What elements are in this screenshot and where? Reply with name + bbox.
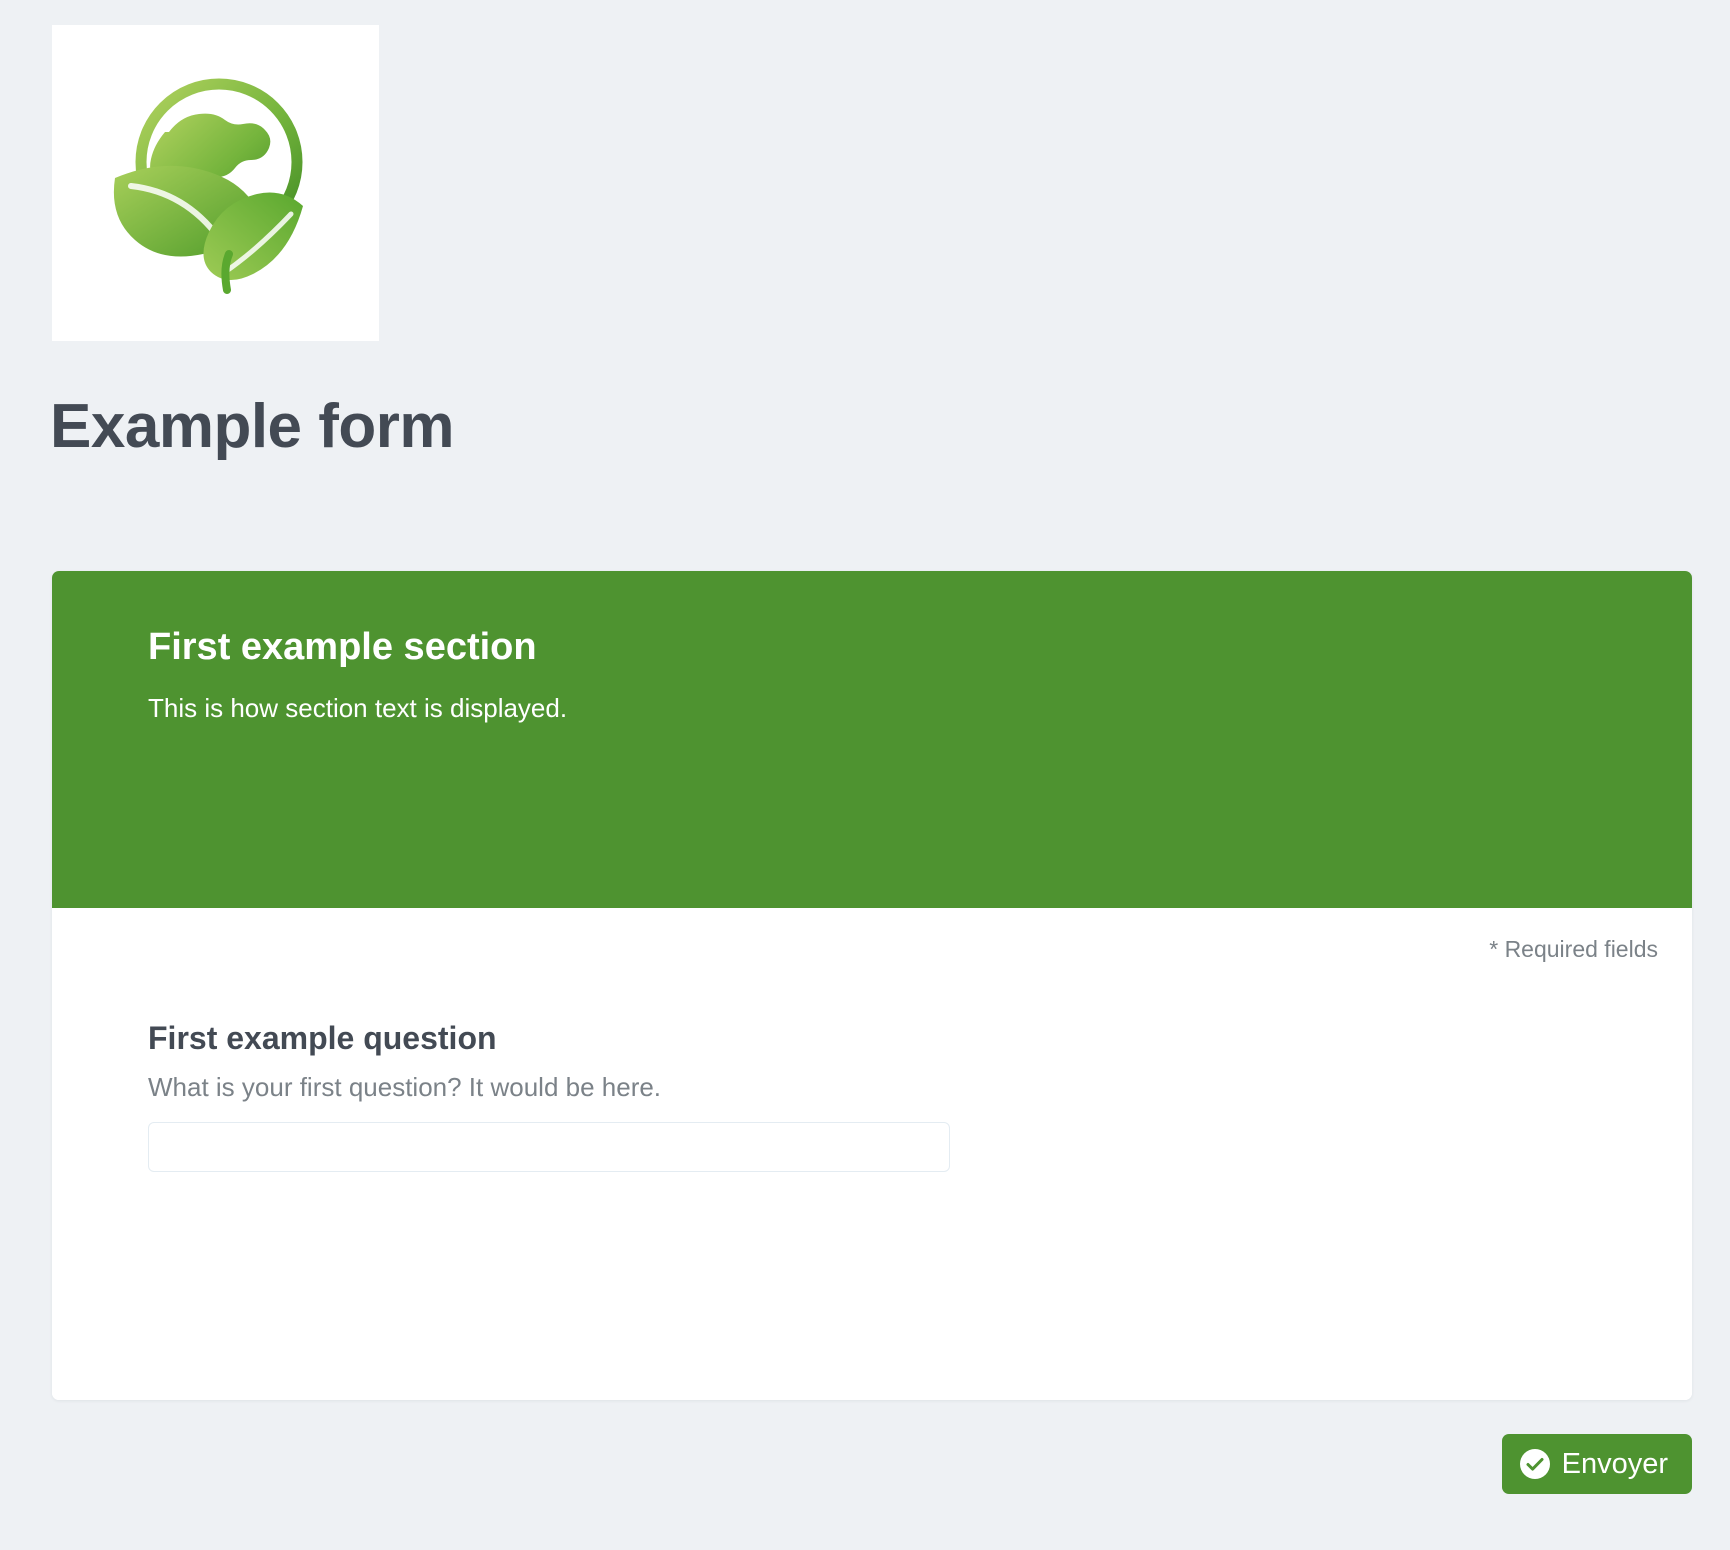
submit-button[interactable]: Envoyer (1502, 1434, 1692, 1494)
form-body: * Required fields First example question… (52, 908, 1692, 1400)
question-description: What is your first question? It would be… (148, 1070, 1148, 1104)
first-example-question-input[interactable] (148, 1122, 950, 1172)
section-header: First example section This is how sectio… (52, 571, 1692, 908)
page-title: Example form (50, 388, 454, 466)
section-title: First example section (148, 621, 537, 673)
check-circle-icon (1520, 1449, 1550, 1479)
green-globe-leaves-logo-icon (91, 58, 341, 308)
form-card: First example section This is how sectio… (52, 571, 1692, 1400)
question-block: First example question What is your firs… (148, 1016, 1148, 1172)
submit-row: Envoyer (0, 1434, 1730, 1494)
logo-container (52, 25, 379, 341)
form-page: Example form First example section This … (0, 0, 1730, 1550)
section-description: This is how section text is displayed. (148, 691, 567, 725)
question-title: First example question (148, 1016, 1148, 1060)
required-fields-note: * Required fields (1489, 934, 1658, 964)
submit-button-label: Envoyer (1562, 1448, 1668, 1480)
